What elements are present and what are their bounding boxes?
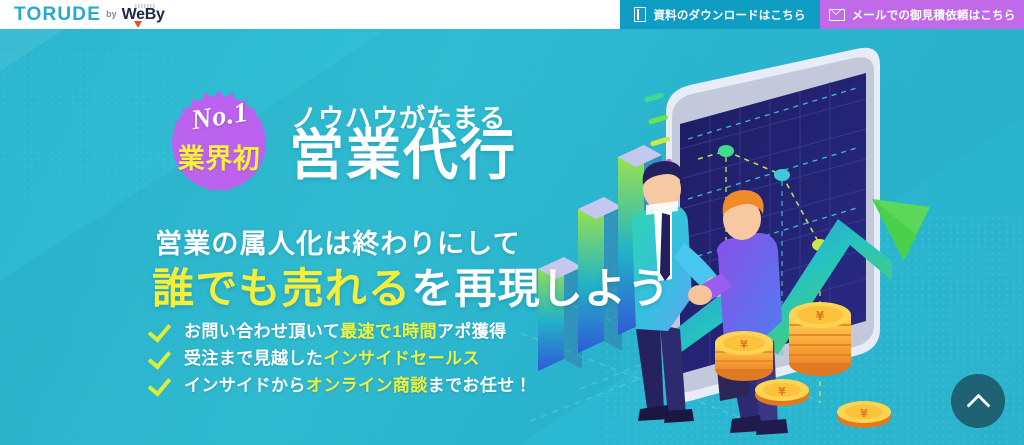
list-item: お問い合わせ頂いて最速で1時間アポ獲得 — [152, 316, 532, 343]
logo-partner: WeBy — [122, 7, 165, 23]
subheadline-line2: 誰でも売れるを再現しよう — [152, 255, 670, 316]
site-logo[interactable]: TORUDE by WeBy — [0, 0, 165, 29]
svg-text:¥: ¥ — [860, 407, 868, 420]
download-document-label: 資料のダウンロードはこちら — [653, 7, 805, 23]
document-icon — [634, 7, 646, 22]
scroll-to-top-button[interactable] — [951, 374, 1005, 428]
svg-text:¥: ¥ — [778, 385, 786, 398]
logo-triangle-icon — [134, 21, 142, 28]
bullet-part-highlight: オンライン商談 — [306, 376, 428, 395]
list-item: 受注まで見越したインサイドセールス — [152, 343, 532, 370]
feature-bullet-list: お問い合わせ頂いて最速で1時間アポ獲得 受注まで見越したインサイドセールス イン… — [152, 316, 532, 397]
svg-text:¥: ¥ — [816, 309, 825, 323]
email-quote-request-label: メールでの御見積依頼はこちら — [852, 7, 1016, 23]
download-document-button[interactable]: 資料のダウンロードはこちら — [620, 0, 820, 29]
site-header: TORUDE by WeBy 資料のダウンロードはこちら メールでの御見積依頼は… — [0, 0, 1024, 29]
check-icon — [152, 348, 173, 365]
bullet-text: インサイドからオンライン商談までお任せ！ — [184, 371, 532, 396]
bullet-part-highlight: インサイドセールス — [323, 349, 480, 368]
bullet-part: お問い合わせ頂いて — [184, 322, 340, 341]
bullet-part: インサイドから — [184, 376, 306, 395]
check-icon — [152, 375, 173, 392]
chevron-up-icon — [968, 391, 988, 411]
bullet-part-highlight: 最速で1時間 — [340, 322, 437, 341]
logo-by-text: by — [106, 10, 117, 20]
subheadline-line2-rest: を再現しよう — [411, 265, 670, 312]
header-spacer — [165, 0, 620, 29]
svg-text:¥: ¥ — [740, 338, 748, 351]
list-item: インサイドからオンライン商談までお任せ！ — [152, 370, 532, 397]
industry-first-badge: No.1 業界初 — [157, 89, 281, 201]
page-root: TORUDE by WeBy 資料のダウンロードはこちら メールでの御見積依頼は… — [0, 0, 1024, 445]
logo-brand-text: TORUDE — [14, 5, 101, 24]
bullet-text: 受注まで見越したインサイドセールス — [184, 344, 480, 369]
subheadline-line2-highlight: 誰でも売れる — [152, 265, 411, 312]
badge-industry-first-text: 業界初 — [157, 137, 281, 176]
hero-dot-texture-left — [0, 51, 180, 201]
bullet-text: お問い合わせ頂いて最速で1時間アポ獲得 — [184, 317, 507, 342]
hero-illustration: ¥ ¥ ¥ — [520, 29, 1024, 445]
logo-partner-text: WeBy — [122, 7, 165, 23]
logo-specks-decoration — [135, 4, 155, 8]
check-icon — [152, 321, 173, 338]
bullet-part: アポ獲得 — [437, 322, 507, 341]
envelope-icon — [829, 9, 845, 21]
bullet-part: までお任せ！ — [428, 376, 532, 395]
email-quote-request-button[interactable]: メールでの御見積依頼はこちら — [820, 0, 1024, 29]
headline-large: 営業代行 — [289, 127, 517, 185]
bullet-part: 受注まで見越した — [184, 349, 323, 368]
